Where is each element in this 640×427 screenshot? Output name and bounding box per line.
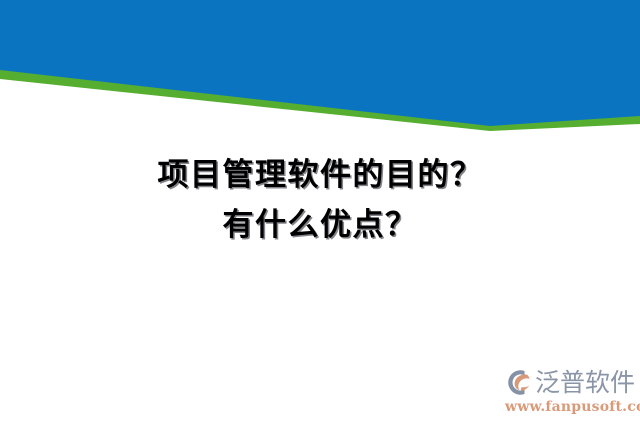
slide-title: 项目管理软件的目的？ 有什么优点？ <box>0 160 640 241</box>
title-line-2: 有什么优点？ <box>0 210 640 241</box>
brand-logo: 泛普软件 www.fanpusoft.com <box>504 366 636 416</box>
title-line-1: 项目管理软件的目的？ <box>0 160 640 191</box>
fanpu-swoosh-logo-icon <box>504 368 533 397</box>
slide-canvas: 项目管理软件的目的？ 有什么优点？ 泛普软件 www.fanpusoft.com <box>0 0 640 427</box>
brand-logo-row: 泛普软件 <box>504 366 636 398</box>
chevron-banner <box>0 0 640 140</box>
brand-name-text: 泛普软件 <box>535 368 635 397</box>
brand-url-text: www.fanpusoft.com <box>505 399 636 415</box>
